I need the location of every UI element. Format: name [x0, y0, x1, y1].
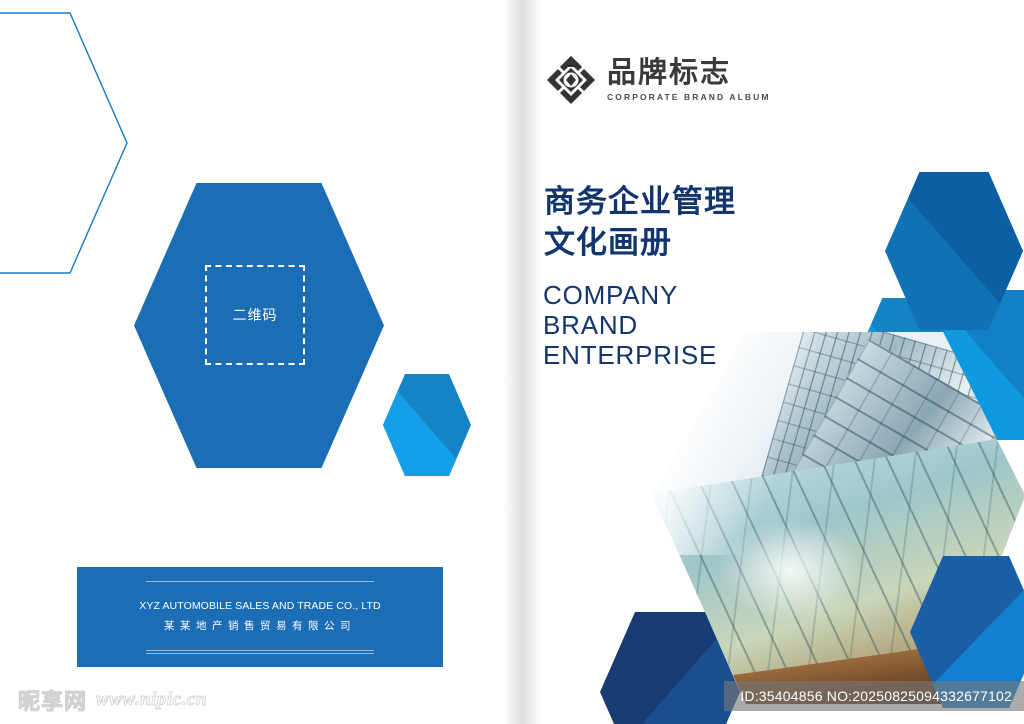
- qr-code-placeholder: 二维码: [205, 265, 305, 365]
- divider-bottom-group: [146, 650, 374, 654]
- asset-id-text: ID:35404856 NO:20250825094332677102: [740, 688, 1012, 704]
- qr-code-label: 二维码: [233, 305, 278, 325]
- company-name-chinese: 某某地产销售贸易有限公司: [164, 618, 356, 633]
- brand-logo: 品牌标志 CORPORATE BRAND ALBUM: [545, 54, 771, 106]
- outline-hexagon-decoration: [0, 12, 128, 274]
- divider-top: [146, 581, 374, 582]
- cover-title-chinese: 商务企业管理 文化画册: [544, 182, 736, 264]
- site-watermark: 昵享网 www.nipic.cn: [18, 684, 207, 716]
- company-name-english: XYZ AUTOMOBILE SALES AND TRADE CO., LTD: [139, 600, 380, 612]
- brochure-cover-spread: 二维码 XYZ AUTOMOBILE SALES AND TRADE CO., …: [0, 0, 1024, 724]
- logo-brand-english: CORPORATE BRAND ALBUM: [607, 92, 771, 102]
- logo-wordmark: 品牌标志 CORPORATE BRAND ALBUM: [607, 58, 771, 102]
- diamond-arrows-logo-icon: [545, 54, 597, 106]
- watermark-site-url: www.nipic.cn: [96, 689, 207, 711]
- divider-bottom-2: [146, 653, 374, 654]
- company-info-box: XYZ AUTOMOBILE SALES AND TRADE CO., LTD …: [77, 567, 443, 667]
- watermark-site-name: 昵享网: [18, 684, 87, 716]
- logo-brand-chinese: 品牌标志: [607, 58, 771, 87]
- book-spine-gutter: [503, 0, 543, 724]
- cover-title-english: COMPANY BRAND ENTERPRISE: [543, 280, 717, 370]
- asset-id-bar: ID:35404856 NO:20250825094332677102: [724, 681, 1024, 711]
- divider-bottom-1: [146, 650, 374, 651]
- small-accent-hexagon: [383, 374, 471, 476]
